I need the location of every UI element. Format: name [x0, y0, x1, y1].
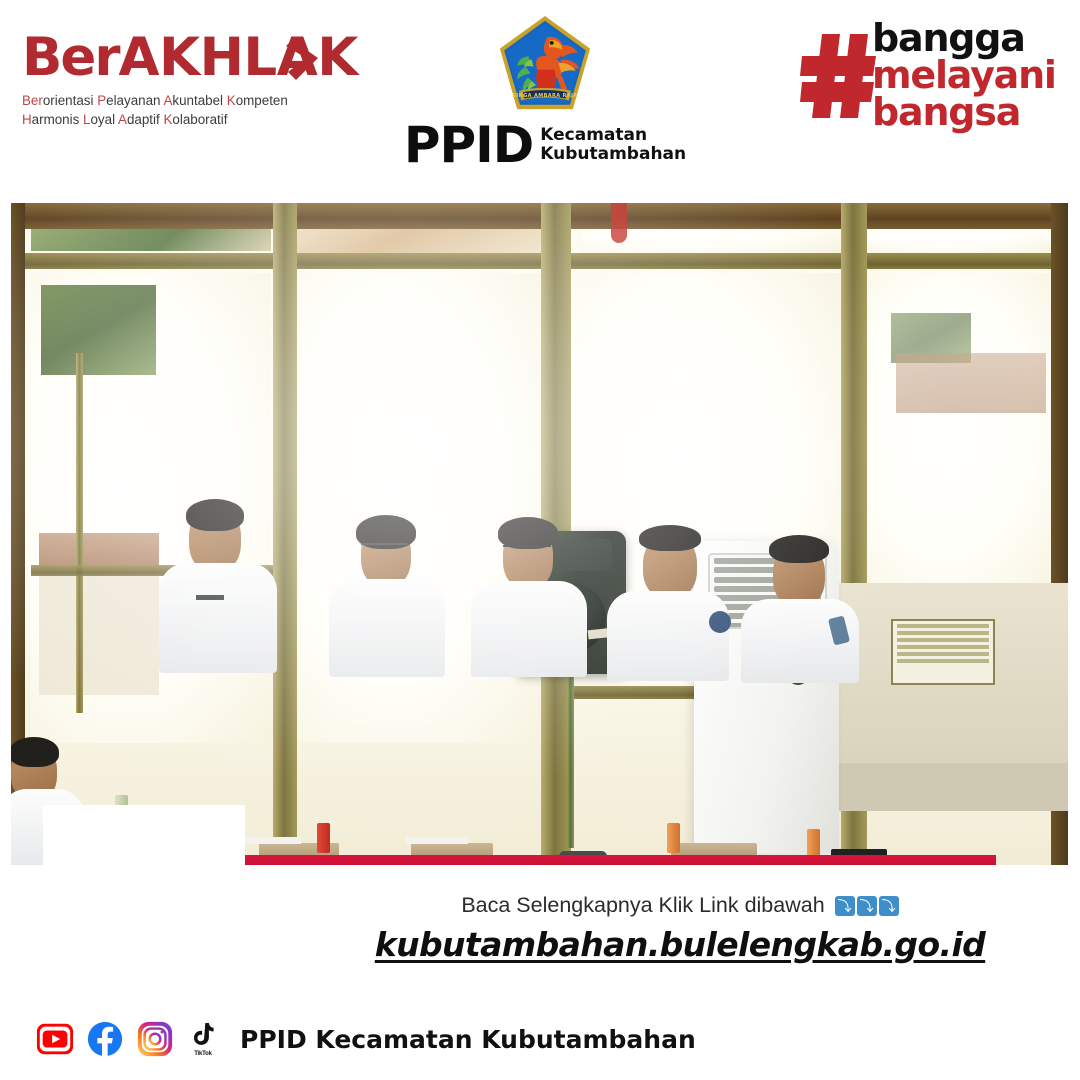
bangga-line-3: bangsa — [872, 94, 1056, 131]
ceiling-marker — [611, 203, 627, 243]
documents — [241, 837, 301, 844]
bangga-line-2: melayani — [872, 57, 1056, 94]
outdoor-wall — [39, 565, 159, 695]
chevron-right-icon — [286, 38, 324, 82]
tiktok-note-icon — [190, 1022, 216, 1050]
berakhlak-tagline-line2: Harmonis Loyal Adaptif Kolaboratif — [22, 111, 322, 130]
youtube-icon[interactable] — [36, 1020, 74, 1058]
facebook-icon[interactable] — [86, 1020, 124, 1058]
name-tag — [196, 595, 224, 600]
soda-can — [317, 823, 330, 853]
ppid-subtitle-line1: Kecamatan — [540, 126, 686, 145]
bangga-melayani-bangsa-logo: bangga melayani bangsa — [800, 20, 1062, 132]
poster-header: BerAKHLAK Berorientasi Pelayanan Akuntab… — [0, 0, 1080, 195]
ppid-logo-block: SINGA AMBARA RAJA PPID Kecamatan Kubutam… — [380, 14, 710, 170]
bangga-wordmark: bangga melayani bangsa — [872, 20, 1056, 131]
website-link[interactable]: kubutambahan.bulelengkab.go.id — [300, 925, 1060, 964]
photo-scene — [11, 203, 1068, 865]
poster-canvas: BerAKHLAK Berorientasi Pelayanan Akuntab… — [0, 0, 1080, 1080]
window-mullion — [273, 203, 297, 865]
call-to-action: Baca Selengkapnya Klik Link dibawah ⤵ ⤵ … — [300, 893, 1060, 964]
bangga-line-1: bangga — [872, 20, 1056, 57]
arrow-curving-down-icon: ⤵ — [879, 896, 899, 916]
back-wall-lower — [839, 763, 1068, 811]
qr-code-card — [43, 805, 245, 1007]
cta-prompt: Baca Selengkapnya Klik Link dibawah — [461, 893, 824, 918]
tiktok-icon[interactable]: TikTok — [186, 1019, 220, 1059]
buleleng-regency-emblem-icon: SINGA AMBARA RAJA — [497, 14, 593, 114]
louvre-window — [891, 619, 995, 685]
ceiling-beam — [11, 203, 1068, 229]
social-handle: PPID Kecamatan Kubutambahan — [240, 1025, 696, 1054]
berakhlak-logo: BerAKHLAK Berorientasi Pelayanan Akuntab… — [22, 28, 322, 129]
berakhlak-wordmark: BerAKHLAK — [22, 28, 322, 88]
berakhlak-tagline-line1: Berorientasi Pelayanan Akuntabel Kompete… — [22, 92, 322, 111]
red-tablecloth-right — [541, 863, 996, 865]
speaker-stand — [567, 673, 574, 848]
drink-cup — [667, 823, 680, 853]
outdoor-roof — [39, 533, 159, 567]
instagram-icon[interactable] — [136, 1020, 174, 1058]
berakhlak-word-part1: Ber — [22, 27, 118, 88]
arrow-curving-down-icon: ⤵ — [835, 896, 855, 916]
ppid-subtitle: Kecamatan Kubutambahan — [540, 126, 686, 164]
window-mullion — [76, 353, 83, 713]
documents — [406, 837, 468, 844]
ppid-subtitle-line2: Kubutambahan — [540, 145, 686, 164]
cta-prompt-row: Baca Selengkapnya Klik Link dibawah ⤵ ⤵ … — [300, 893, 1060, 918]
shoulder-emblem — [709, 611, 731, 633]
arrow-curving-down-icon: ⤵ — [857, 896, 877, 916]
ppid-wordmark: PPID Kecamatan Kubutambahan — [380, 120, 710, 170]
hashtag-icon — [800, 32, 878, 120]
event-photo — [11, 203, 1068, 865]
svg-text:SINGA AMBARA RAJA: SINGA AMBARA RAJA — [512, 93, 577, 99]
window-rail — [11, 253, 1068, 269]
outdoor-roof — [896, 353, 1046, 413]
social-bar: TikTok PPID Kecamatan Kubutambahan — [36, 1013, 696, 1065]
tiktok-label: TikTok — [194, 1051, 212, 1057]
berakhlak-tagline: Berorientasi Pelayanan Akuntabel Kompete… — [22, 92, 322, 129]
ppid-acronym: PPID — [404, 120, 533, 170]
outdoor-foliage — [41, 285, 156, 375]
arrow-curving-down-icon-group: ⤵ ⤵ ⤵ — [835, 896, 899, 916]
